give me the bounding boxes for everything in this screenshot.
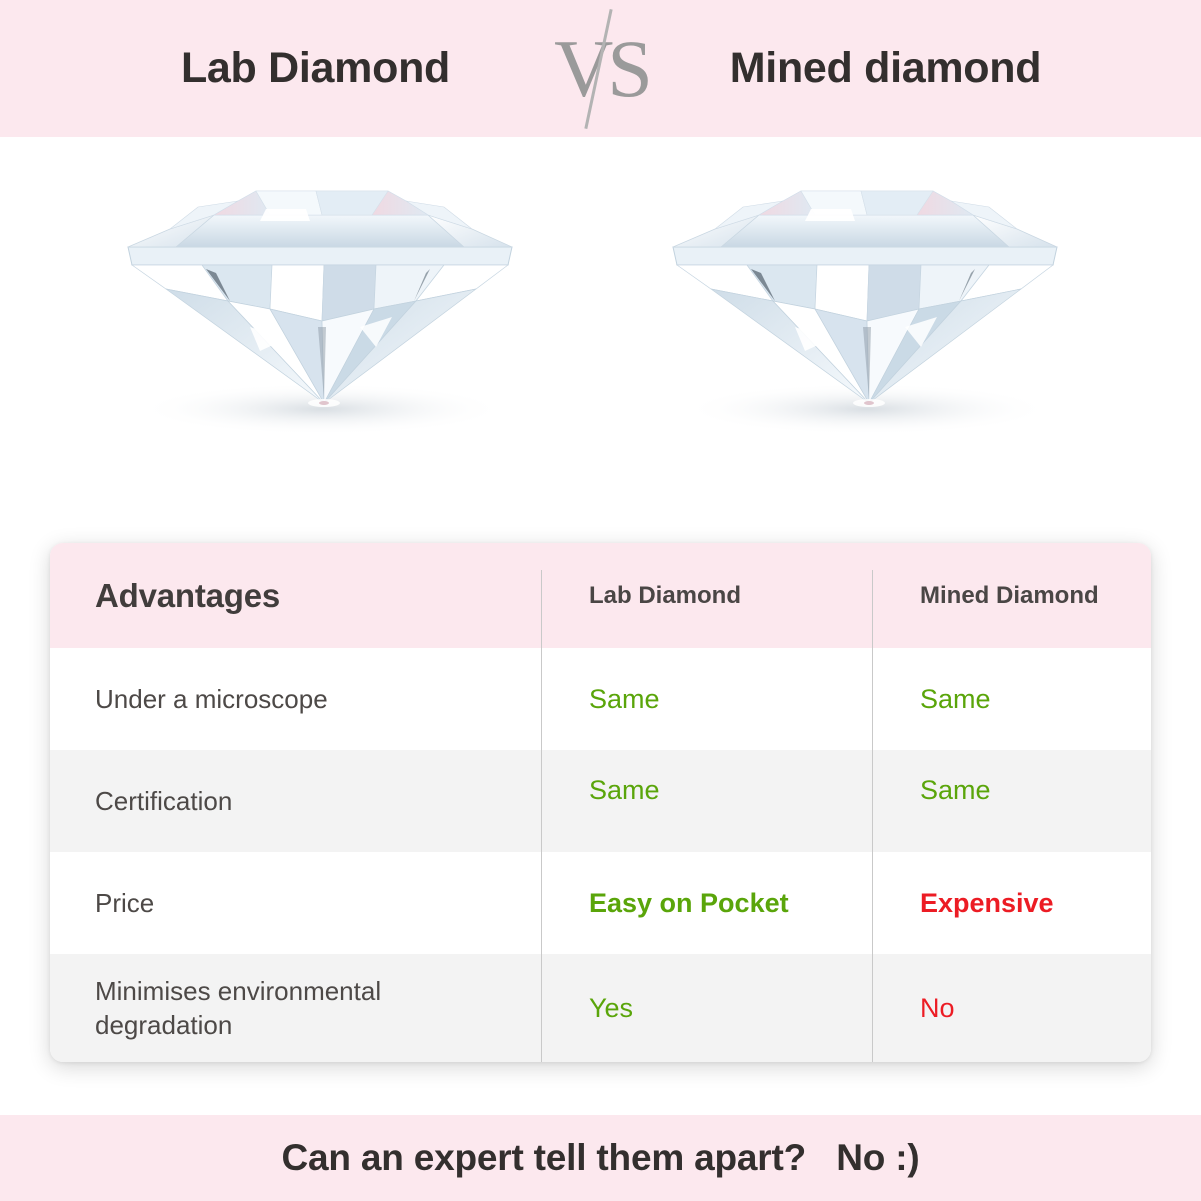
table-header-feature-cell: Advantages <box>50 577 541 615</box>
column-divider-2 <box>872 570 873 1062</box>
column-divider-1 <box>541 570 542 1062</box>
footer-banner: Can an expert tell them apart? No :) <box>0 1115 1201 1201</box>
table-header-mined-cell: Mined Diamond <box>872 582 1151 610</box>
lab-diamond-image <box>110 151 530 541</box>
header-banner: Lab Diamond VS Mined diamond <box>0 0 1201 137</box>
mined-diamond-image <box>655 151 1075 541</box>
diamond-gallery <box>0 137 1201 543</box>
header-title-lab: Lab Diamond <box>106 44 526 93</box>
row-mined-value: No <box>872 993 1151 1024</box>
row-feature-label: Under a microscope <box>50 682 541 716</box>
row-feature-label: Certification <box>50 784 541 818</box>
footer-question: Can an expert tell them apart? No :) <box>282 1137 920 1179</box>
table-row: Certification Same Same <box>50 750 1151 852</box>
row-feature-label: Minimises environmental degradation <box>50 974 541 1043</box>
table-header-lab-cell: Lab Diamond <box>541 582 872 610</box>
row-mined-value: Same <box>872 775 1151 806</box>
table-row: Under a microscope Same Same <box>50 648 1151 750</box>
table-row: Price Easy on Pocket Expensive <box>50 852 1151 954</box>
header-title-mined: Mined diamond <box>676 44 1096 93</box>
table-header-lab: Lab Diamond <box>589 582 741 609</box>
table-header-advantages: Advantages <box>95 577 280 614</box>
row-feature-label: Price <box>50 886 541 920</box>
row-mined-value: Same <box>872 684 1151 715</box>
row-mined-value: Expensive <box>872 888 1151 919</box>
row-lab-value: Same <box>541 775 872 806</box>
row-lab-value: Easy on Pocket <box>541 888 872 919</box>
table-header-row: Advantages Lab Diamond Mined Diamond <box>50 543 1151 648</box>
versus-label: VS <box>526 28 676 110</box>
row-lab-value: Same <box>541 684 872 715</box>
comparison-table-card: Advantages Lab Diamond Mined Diamond Und… <box>50 543 1151 1062</box>
row-lab-value: Yes <box>541 993 872 1024</box>
table-header-mined: Mined Diamond <box>920 582 1099 609</box>
table-row: Minimises environmental degradation Yes … <box>50 954 1151 1062</box>
versus-badge: VS <box>526 0 676 137</box>
